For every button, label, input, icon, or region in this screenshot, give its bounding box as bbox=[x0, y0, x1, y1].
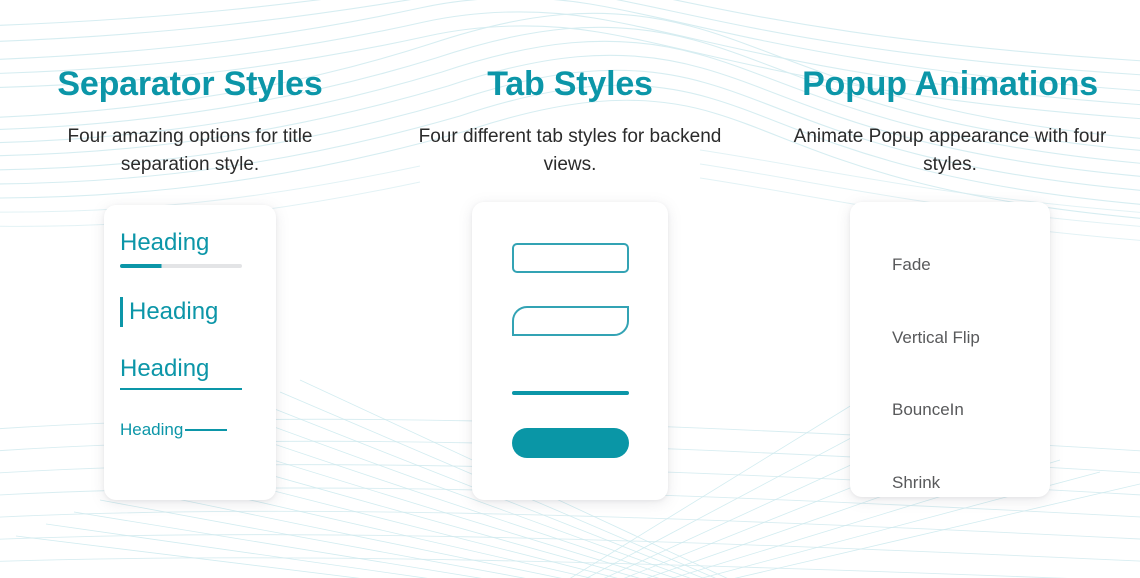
separator-label: Heading bbox=[120, 357, 276, 381]
separator-label: Heading bbox=[129, 300, 218, 324]
list-item-vertical-flip[interactable]: Vertical Flip bbox=[850, 329, 980, 346]
tab-style-outlined-rect[interactable] bbox=[512, 243, 629, 273]
separator-preview-card: Heading Heading Heading Heading bbox=[104, 205, 276, 500]
separator-option-underline-split[interactable]: Heading bbox=[104, 231, 276, 268]
feature-columns: Separator Styles Four amazing options fo… bbox=[0, 0, 1140, 578]
column-popup-animations: Popup Animations Animate Popup appearanc… bbox=[760, 0, 1140, 497]
page-title-popup-animations: Popup Animations bbox=[802, 66, 1098, 103]
separator-rule-trailing bbox=[185, 429, 227, 431]
column-separator-styles: Separator Styles Four amazing options fo… bbox=[0, 0, 380, 500]
separator-option-trailing-line[interactable]: Heading bbox=[104, 421, 276, 438]
tab-preview-card bbox=[472, 202, 668, 500]
tab-style-diagonal-corners[interactable] bbox=[512, 306, 629, 336]
separator-option-left-bar[interactable]: Heading bbox=[104, 297, 276, 327]
separator-rule-underline bbox=[120, 388, 242, 390]
tab-style-filled-pill[interactable] bbox=[512, 428, 629, 458]
page-title-separator-styles: Separator Styles bbox=[57, 66, 322, 103]
list-item-bouncein[interactable]: BounceIn bbox=[850, 401, 964, 418]
page-title-tab-styles: Tab Styles bbox=[487, 66, 653, 103]
list-item-shrink[interactable]: Shrink bbox=[850, 474, 940, 491]
subtitle-popup-animations: Animate Popup appearance with four style… bbox=[785, 123, 1115, 178]
animation-list-card: Fade Vertical Flip BounceIn Shrink bbox=[850, 202, 1050, 497]
tab-style-underline-bar[interactable] bbox=[512, 391, 629, 395]
subtitle-separator-styles: Four amazing options for title separatio… bbox=[25, 123, 355, 178]
column-tab-styles: Tab Styles Four different tab styles for… bbox=[380, 0, 760, 500]
separator-option-underline-full[interactable]: Heading bbox=[104, 357, 276, 390]
separator-rule-vertical-bar bbox=[120, 297, 123, 327]
separator-label: Heading bbox=[120, 231, 276, 255]
subtitle-tab-styles: Four different tab styles for backend vi… bbox=[405, 123, 735, 178]
separator-rule-split bbox=[120, 264, 242, 268]
separator-label: Heading bbox=[120, 421, 183, 438]
list-item-fade[interactable]: Fade bbox=[850, 256, 931, 273]
